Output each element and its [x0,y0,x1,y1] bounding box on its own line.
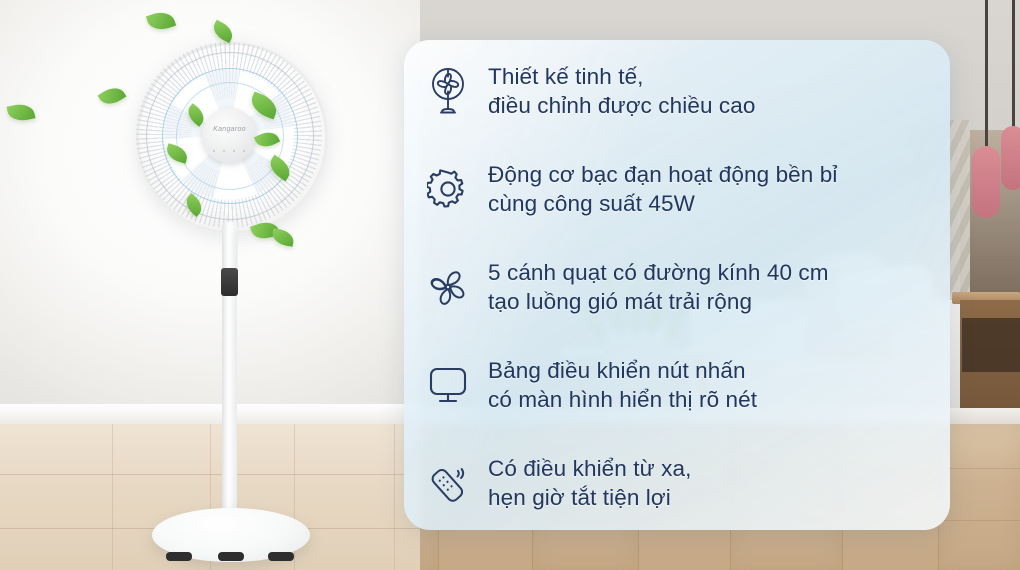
remote-control-icon [424,457,472,509]
fan-base-foot [166,552,192,561]
monitor-icon [424,359,472,411]
brand-logo: Kangaroo [202,126,257,133]
fan-blades-icon [424,261,472,313]
feature-item-remote: Có điều khiển từ xa, hẹn giờ tắt tiện lợ… [418,454,932,513]
fan-hub-screws [210,148,250,154]
fan-base-foot [268,552,294,561]
pendant-lamp [1001,126,1020,190]
stand-fan-icon [424,65,472,117]
pendant-lamp-cord [985,0,988,148]
sideboard-shelf [962,318,1020,372]
feature-panel: Thiết kế tinh tế, điều chỉnh được chiều … [404,40,950,530]
feature-text: Có điều khiển từ xa, hẹn giờ tắt tiện lợ… [488,454,691,513]
feature-item-design: Thiết kế tinh tế, điều chỉnh được chiều … [418,62,932,121]
product-feature-banner: Kangaroo [0,0,1020,570]
gear-icon [424,163,472,215]
pendant-lamp-cord [1012,0,1015,128]
feature-text: 5 cánh quạt có đường kính 40 cm tạo luồn… [488,258,829,317]
feature-list: Thiết kế tinh tế, điều chỉnh được chiều … [404,40,950,530]
feature-item-display: Bảng điều khiển nút nhấn có màn hình hiể… [418,356,932,415]
feature-text: Thiết kế tinh tế, điều chỉnh được chiều … [488,62,755,121]
pendant-lamp [972,146,1000,218]
feature-text: Bảng điều khiển nút nhấn có màn hình hiể… [488,356,757,415]
fan-height-clamp[interactable] [221,268,238,296]
floating-leaf [7,101,36,123]
feature-item-motor: Động cơ bạc đạn hoạt động bền bỉ cùng cô… [418,160,932,219]
stand-fan-product: Kangaroo [118,22,318,562]
feature-item-blades: 5 cánh quạt có đường kính 40 cm tạo luồn… [418,258,932,317]
fan-base-foot [218,552,244,561]
feature-text: Động cơ bạc đạn hoạt động bền bỉ cùng cô… [488,160,837,219]
product-photo-area: Kangaroo [0,0,420,570]
fan-hub [202,108,257,163]
